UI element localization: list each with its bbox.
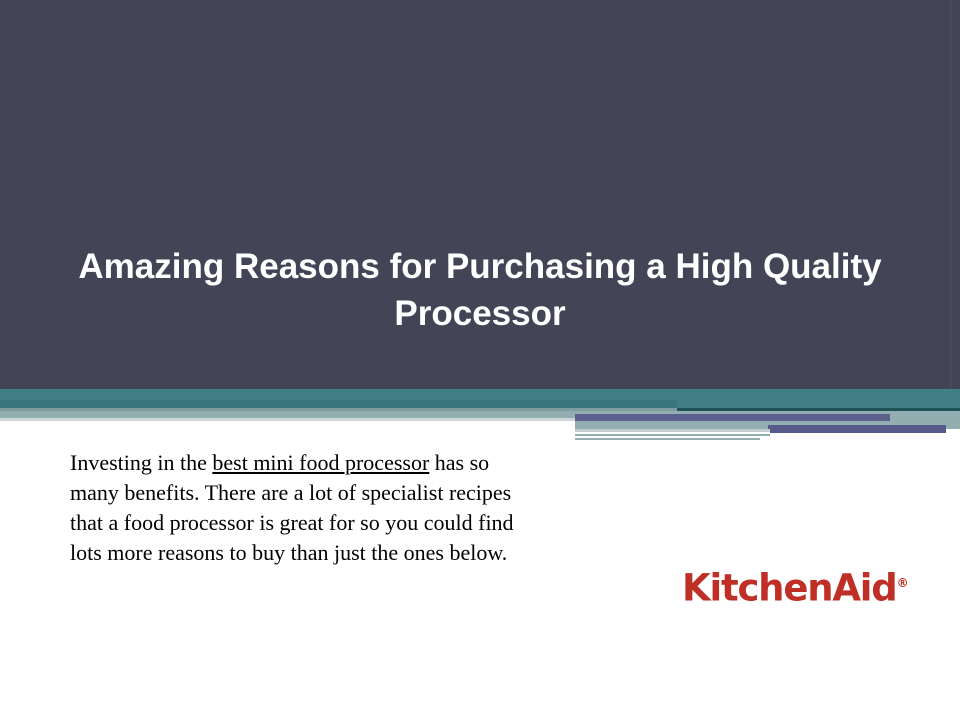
presentation-slide: Amazing Reasons for Purchasing a High Qu…	[0, 0, 960, 720]
band-stripe-teal-mid-left	[0, 400, 677, 408]
slide-body-text: Investing in the best mini food processo…	[70, 448, 520, 568]
kitchenaid-logo: KitchenAid®	[682, 563, 909, 608]
band-stripe-teal-thin-2	[575, 438, 760, 440]
header-panel-seam	[950, 0, 952, 389]
band-stripe-purple-bar-upper	[575, 414, 890, 421]
body-lead-text: Investing in the	[70, 450, 212, 475]
band-stripe-purple-bar-lower	[768, 425, 946, 433]
kitchenaid-logo-wordmark: KitchenAid	[682, 566, 897, 609]
band-stripe-gray-row	[0, 418, 575, 421]
band-stripe-teal-mid-right	[677, 400, 960, 408]
registered-trademark-icon: ®	[897, 576, 909, 590]
decorative-stripe-band	[0, 389, 960, 445]
band-stripe-teal-main	[0, 389, 960, 400]
slide-title: Amazing Reasons for Purchasing a High Qu…	[60, 243, 900, 337]
best-mini-food-processor-link[interactable]: best mini food processor	[212, 450, 429, 475]
